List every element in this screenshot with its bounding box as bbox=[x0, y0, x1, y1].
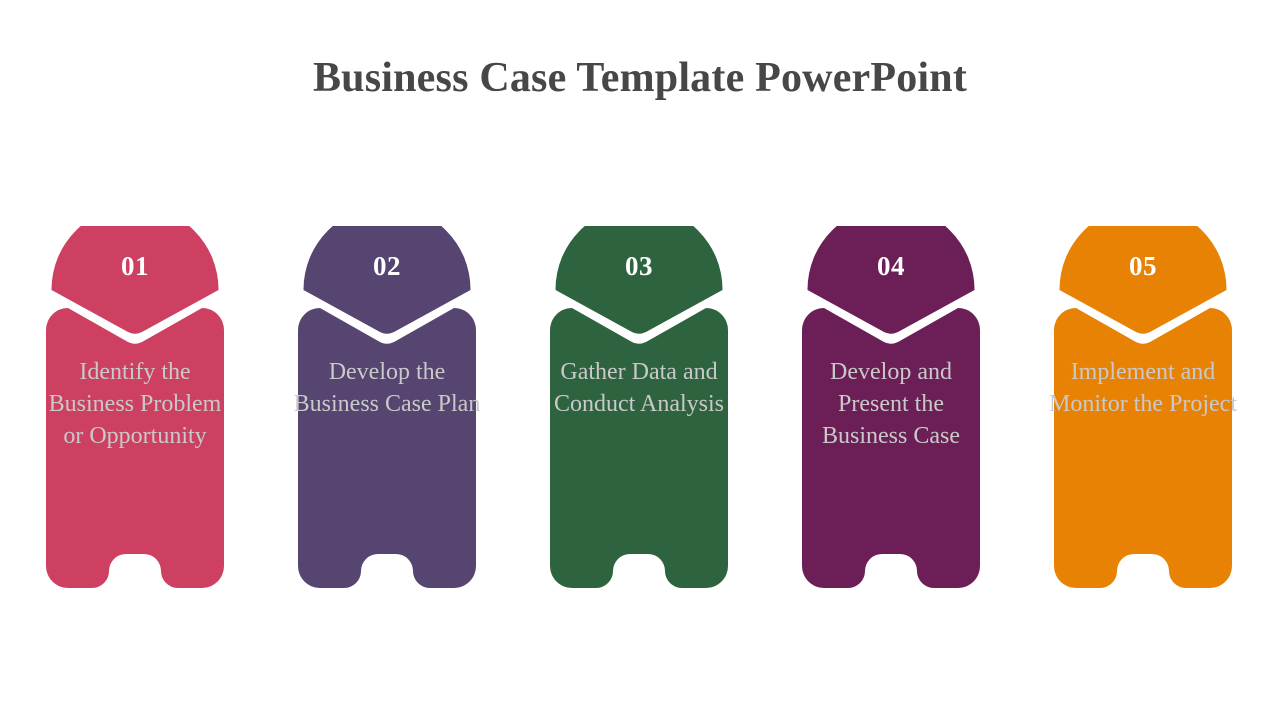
process-steps-row: 01 Identify the Business Problem or Oppo… bbox=[0, 226, 1280, 596]
step-label-01: Identify the Business Problem or Opportu… bbox=[41, 356, 229, 452]
step-card-03[interactable]: 03 Gather Data and Conduct Analysis bbox=[534, 226, 744, 596]
step-card-01[interactable]: 01 Identify the Business Problem or Oppo… bbox=[30, 226, 240, 596]
step-card-05[interactable]: 05 Implement and Monitor the Project bbox=[1038, 226, 1248, 596]
step-body-shape bbox=[1054, 308, 1232, 588]
step-card-04[interactable]: 04 Develop and Present the Business Case bbox=[786, 226, 996, 596]
step-body-shape bbox=[550, 308, 728, 588]
slide-canvas: Business Case Template PowerPoint 01 Ide… bbox=[0, 0, 1280, 720]
step-label-04: Develop and Present the Business Case bbox=[797, 356, 985, 452]
page-title: Business Case Template PowerPoint bbox=[0, 54, 1280, 102]
step-label-02: Develop the Business Case Plan bbox=[293, 356, 481, 420]
step-number-02: 02 bbox=[282, 253, 492, 280]
step-label-05: Implement and Monitor the Project bbox=[1049, 356, 1237, 420]
step-number-01: 01 bbox=[30, 253, 240, 280]
step-number-04: 04 bbox=[786, 253, 996, 280]
step-card-02[interactable]: 02 Develop the Business Case Plan bbox=[282, 226, 492, 596]
step-label-03: Gather Data and Conduct Analysis bbox=[545, 356, 733, 420]
step-body-shape bbox=[298, 308, 476, 588]
step-number-05: 05 bbox=[1038, 253, 1248, 280]
step-number-03: 03 bbox=[534, 253, 744, 280]
